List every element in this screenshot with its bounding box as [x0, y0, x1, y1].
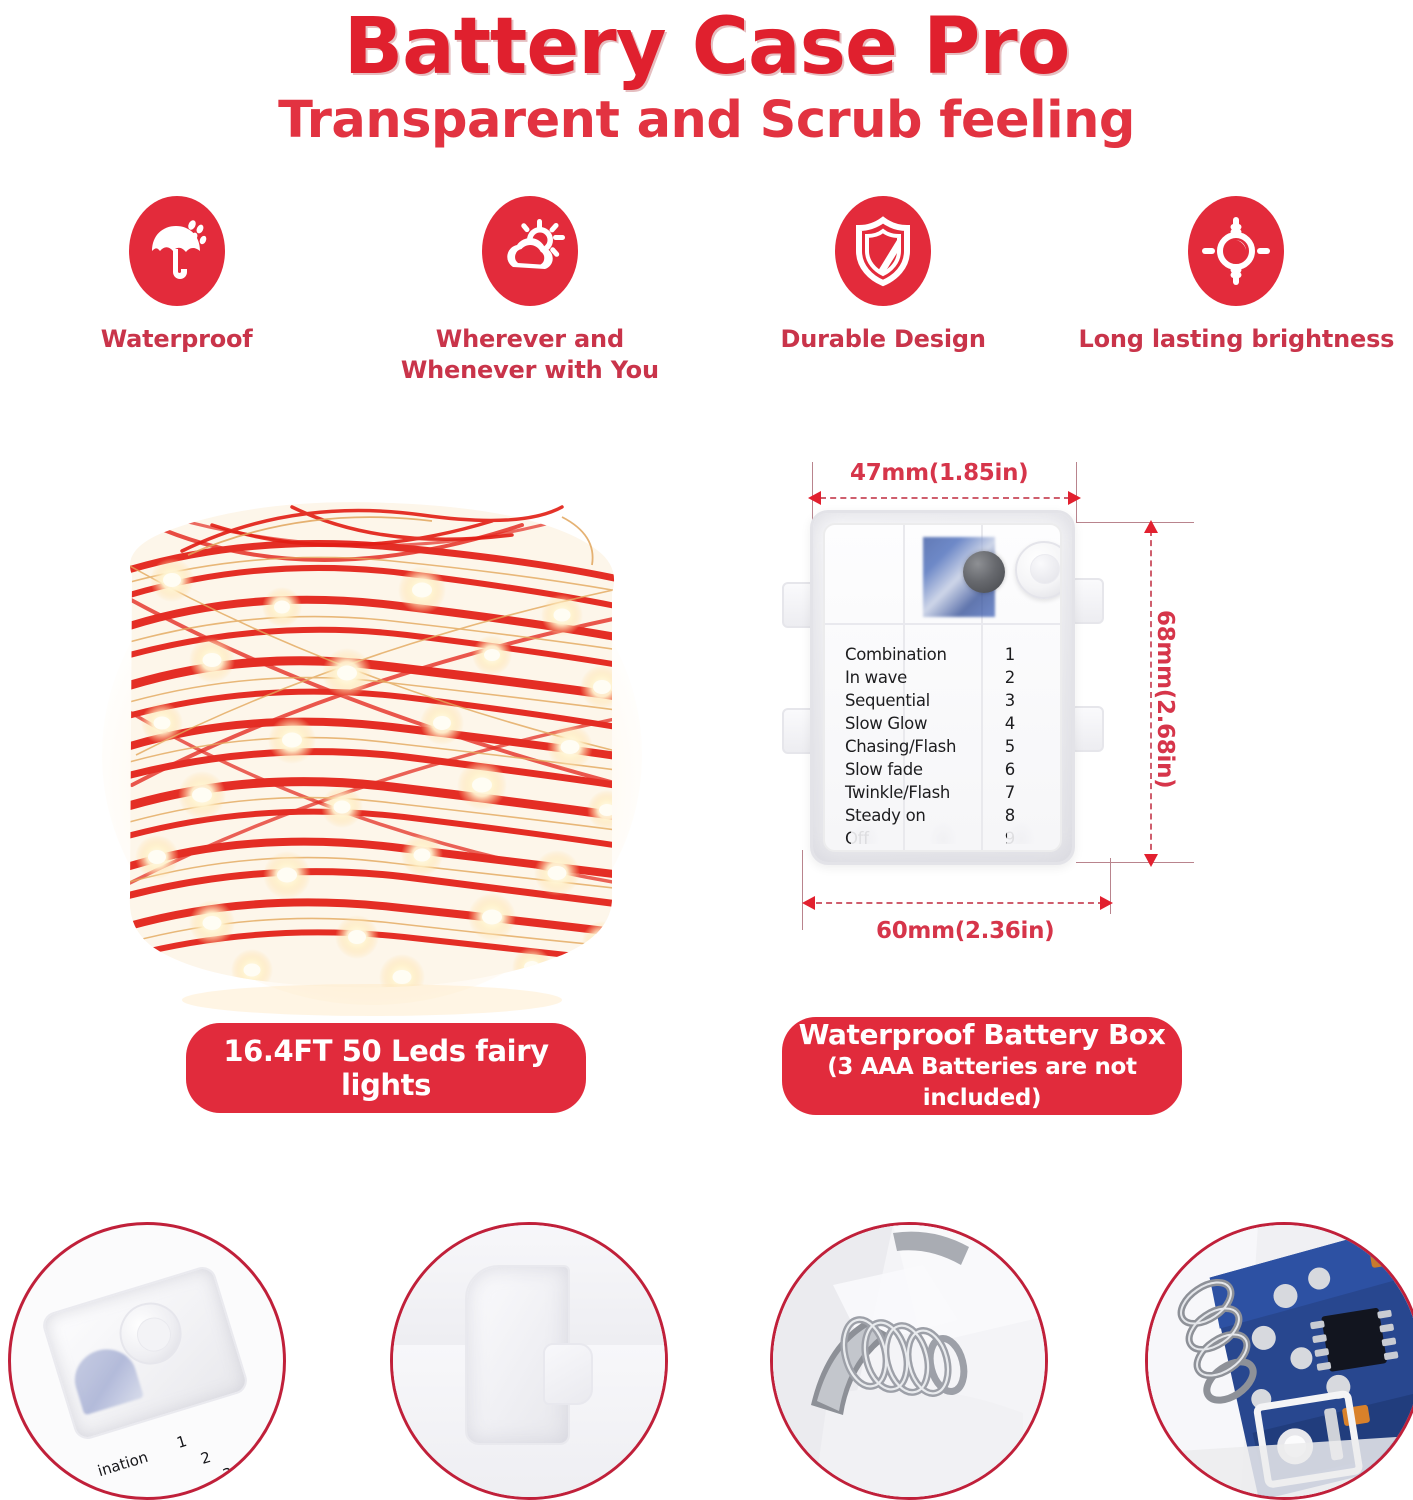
guide-left-bottom: [802, 850, 803, 930]
mode-number: 1: [997, 643, 1015, 666]
feature-label-waterproof: Waterproof: [101, 324, 253, 355]
detail-battery-spring-closeup: [770, 1222, 1048, 1500]
mode-name: In wave: [845, 666, 907, 689]
feature-label-wherever-line1: Wherever and: [436, 325, 624, 353]
dim-arrow-right-top: [1144, 520, 1158, 533]
page-title: Battery Case Pro: [0, 0, 1413, 90]
feature-label-durable: Durable Design: [780, 324, 985, 355]
lid-clip-tab: [543, 1343, 593, 1405]
feature-list: Waterproof: [0, 196, 1413, 396]
mode-name: Twinkle/Flash: [845, 781, 950, 804]
dim-dash-top: [820, 497, 1070, 499]
product-infographic: Battery Case Pro Transparent and Scrub f…: [0, 0, 1413, 1500]
guide-bottom-right: [1076, 862, 1194, 863]
mode-row: Slow fade 6: [845, 758, 1015, 781]
caption-fairy-lights-text: 16.4FT 50 Leds fairy lights: [186, 1034, 586, 1102]
dim-dash-bottom: [816, 902, 1104, 904]
mode-name: Chasing/Flash: [845, 735, 956, 758]
mode-row: Chasing/Flash 5: [845, 735, 1015, 758]
caption-pill-battery-box: Waterproof Battery Box (3 AAA Batteries …: [782, 1017, 1182, 1115]
battery-box-body: Combination 1 In wave 2 Sequential 3 Slo…: [810, 510, 1075, 865]
dim-label-width-bottom: 60mm(2.36in): [876, 918, 1054, 944]
detail-photos: ination 1 2 3: [0, 1222, 1413, 1500]
mode-number: 6: [997, 758, 1015, 781]
dim-label-width-top: 47mm(1.85in): [850, 460, 1028, 486]
mode-row: In wave 2: [845, 666, 1015, 689]
shield-icon: [835, 196, 931, 306]
mode-name: Slow Glow: [845, 712, 927, 735]
inner-shelf-line: [825, 623, 1060, 625]
mode-row: Twinkle/Flash 7: [845, 781, 1015, 804]
detail-power-button-closeup: ination 1 2 3: [8, 1222, 286, 1500]
header: Battery Case Pro Transparent and Scrub f…: [0, 0, 1413, 175]
mode-number: 7: [997, 781, 1015, 804]
sensor-dot-icon: [963, 551, 1005, 593]
mode-row: Slow Glow 4: [845, 712, 1015, 735]
mini-battery-box: [40, 1264, 251, 1443]
detail-2-content: [393, 1225, 665, 1497]
battery-contact-1: [851, 822, 879, 844]
sun-cloud-icon: [482, 196, 578, 306]
feature-wherever: Wherever and Whenever with You: [353, 196, 706, 396]
dim-arrow-top-left: [808, 491, 821, 505]
feature-label-wherever-line2: Whenever with You: [401, 356, 659, 384]
caption-battery-box-line2: (3 AAA Batteries are not included): [782, 1052, 1182, 1114]
mode-name: Sequential: [845, 689, 930, 712]
dim-arrow-top-right: [1068, 491, 1081, 505]
detail-circuit-board-closeup: [1145, 1222, 1413, 1500]
page-subtitle: Transparent and Scrub feeling: [0, 90, 1413, 152]
feature-waterproof: Waterproof: [0, 196, 353, 396]
battery-box-inner: Combination 1 In wave 2 Sequential 3 Slo…: [823, 523, 1062, 852]
mode-row: Sequential 3: [845, 689, 1015, 712]
feature-durable: Durable Design: [707, 196, 1060, 396]
feature-label-brightness: Long lasting brightness: [1079, 324, 1395, 355]
mode-row: Combination 1: [845, 643, 1015, 666]
fairy-lights-photo: [92, 455, 652, 1020]
battery-box-diagram: 47mm(1.85in) 68mm(2.68in) 60mm(2.36in): [780, 450, 1200, 1020]
dim-arrow-bottom-left: [802, 896, 815, 910]
side-clip-right-bottom: [1070, 706, 1104, 752]
dim-arrow-bottom-right: [1100, 896, 1113, 910]
feature-label-wherever: Wherever and Whenever with You: [401, 324, 659, 386]
detail-1-num-3: 3: [221, 1464, 235, 1484]
dim-arrow-right-bottom: [1144, 854, 1158, 867]
detail-1-content: ination 1 2 3: [11, 1225, 283, 1497]
detail-1-num-2: 2: [199, 1448, 213, 1468]
detail-1-text-fragment: ination: [95, 1448, 150, 1480]
mode-number: 5: [997, 735, 1015, 758]
mode-number: 2: [997, 666, 1015, 689]
umbrella-rain-icon: [129, 196, 225, 306]
caption-pill-fairy-lights: 16.4FT 50 Leds fairy lights: [186, 1023, 586, 1113]
caption-battery-box-line1: Waterproof Battery Box: [799, 1018, 1166, 1052]
detail-4-content: [1148, 1225, 1413, 1497]
detail-lid-clip-closeup: [390, 1222, 668, 1500]
mode-number: 4: [997, 712, 1015, 735]
mode-name: Combination: [845, 643, 947, 666]
battery-contact-2: [929, 822, 957, 844]
mode-list: Combination 1 In wave 2 Sequential 3 Slo…: [845, 643, 1015, 850]
battery-contact-3: [1007, 822, 1035, 844]
side-clip-right-top: [1070, 578, 1104, 624]
detail-3-content: [773, 1225, 1045, 1497]
dim-label-height-right: 68mm(2.68in): [1152, 610, 1178, 788]
mode-number: 3: [997, 689, 1015, 712]
guide-top-right: [1076, 522, 1194, 523]
sun-icon: [1188, 196, 1284, 306]
detail-1-num-1: 1: [175, 1432, 189, 1452]
feature-brightness: Long lasting brightness: [1060, 196, 1413, 396]
mode-name: Slow fade: [845, 758, 923, 781]
power-button[interactable]: [1015, 541, 1062, 599]
